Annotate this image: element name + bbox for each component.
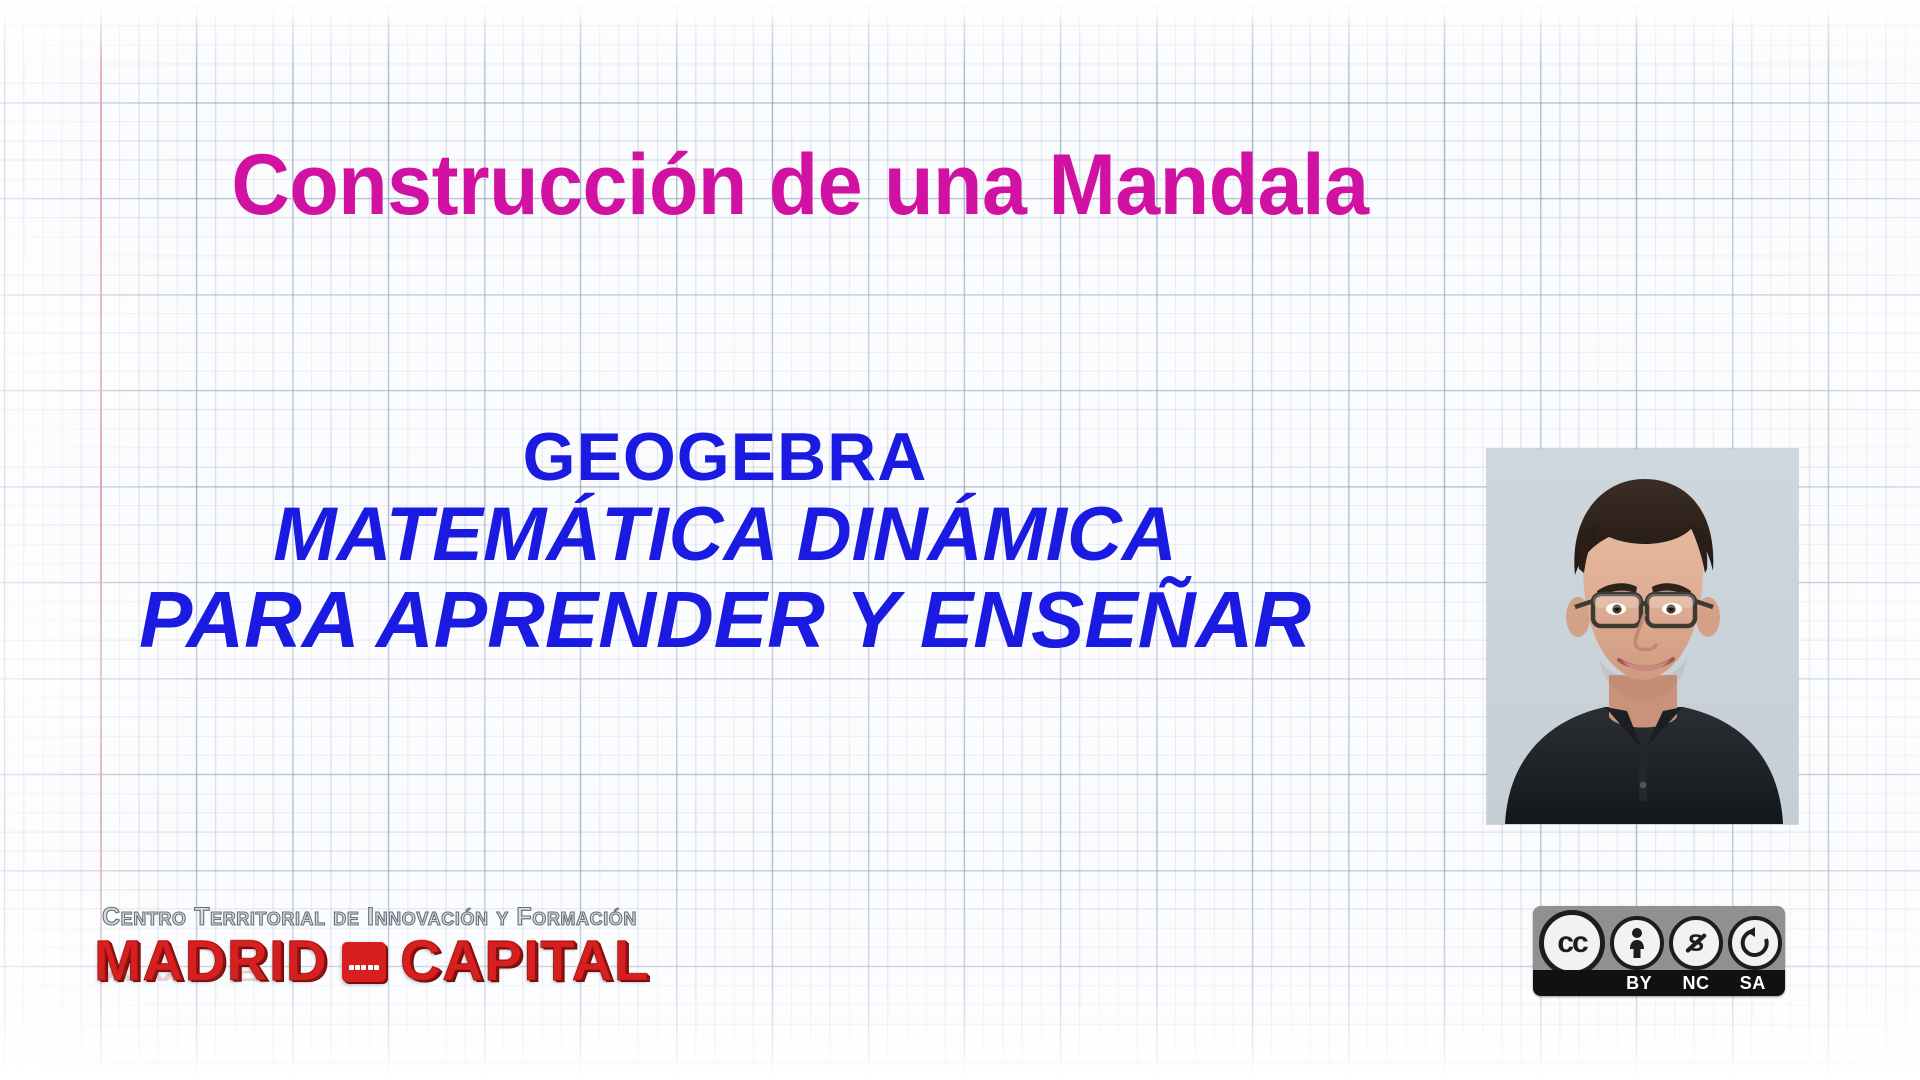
top-edge-fade	[0, 0, 1920, 26]
portrait-illustration	[1487, 449, 1798, 824]
cc-label-nc: NC	[1682, 972, 1709, 994]
cc-label-group: BY NC SA	[1611, 972, 1781, 994]
cc-label-sa: SA	[1740, 972, 1766, 994]
cc-logo-icon: cc	[1539, 910, 1605, 976]
creative-commons-license-badge[interactable]: cc S BY	[1533, 906, 1785, 996]
subtitle-block: GEOGEBRA MATEMÁTICA DINÁMICA PARA APREND…	[0, 422, 1450, 661]
slide-title: Construcción de una Mandala	[48, 142, 1552, 228]
cc-nc-icon: S	[1669, 916, 1723, 970]
presenter-portrait-photo	[1487, 449, 1798, 824]
subtitle-line-para-aprender-y-ensenar: PARA APRENDER Y ENSEÑAR	[0, 578, 1450, 661]
cc-icon-row: cc S	[1539, 910, 1782, 976]
cc-label-by: BY	[1626, 972, 1652, 994]
crossed-currency-glyph: S	[1679, 926, 1713, 960]
bottom-edge-fade	[0, 1058, 1920, 1080]
ctif-wordmark-reflection: MADRID	[88, 970, 618, 984]
slide-canvas: Construcción de una Mandala GEOGEBRA MAT…	[0, 0, 1920, 1080]
share-alike-arrow-glyph	[1739, 927, 1771, 959]
cc-sa-icon	[1728, 916, 1782, 970]
ctif-madrid-capital-logo: Centro Territorial de Innovación y Forma…	[88, 905, 618, 1017]
cc-logo-label: cc	[1557, 928, 1586, 958]
subtitle-line-geogebra: GEOGEBRA	[0, 422, 1450, 493]
ctif-tagline: Centro Territorial de Innovación y Forma…	[88, 905, 618, 930]
person-glyph	[1622, 926, 1652, 960]
cc-by-icon	[1610, 916, 1664, 970]
subtitle-line-matematica-dinamica: MATEMÁTICA DINÁMICA	[0, 495, 1450, 574]
